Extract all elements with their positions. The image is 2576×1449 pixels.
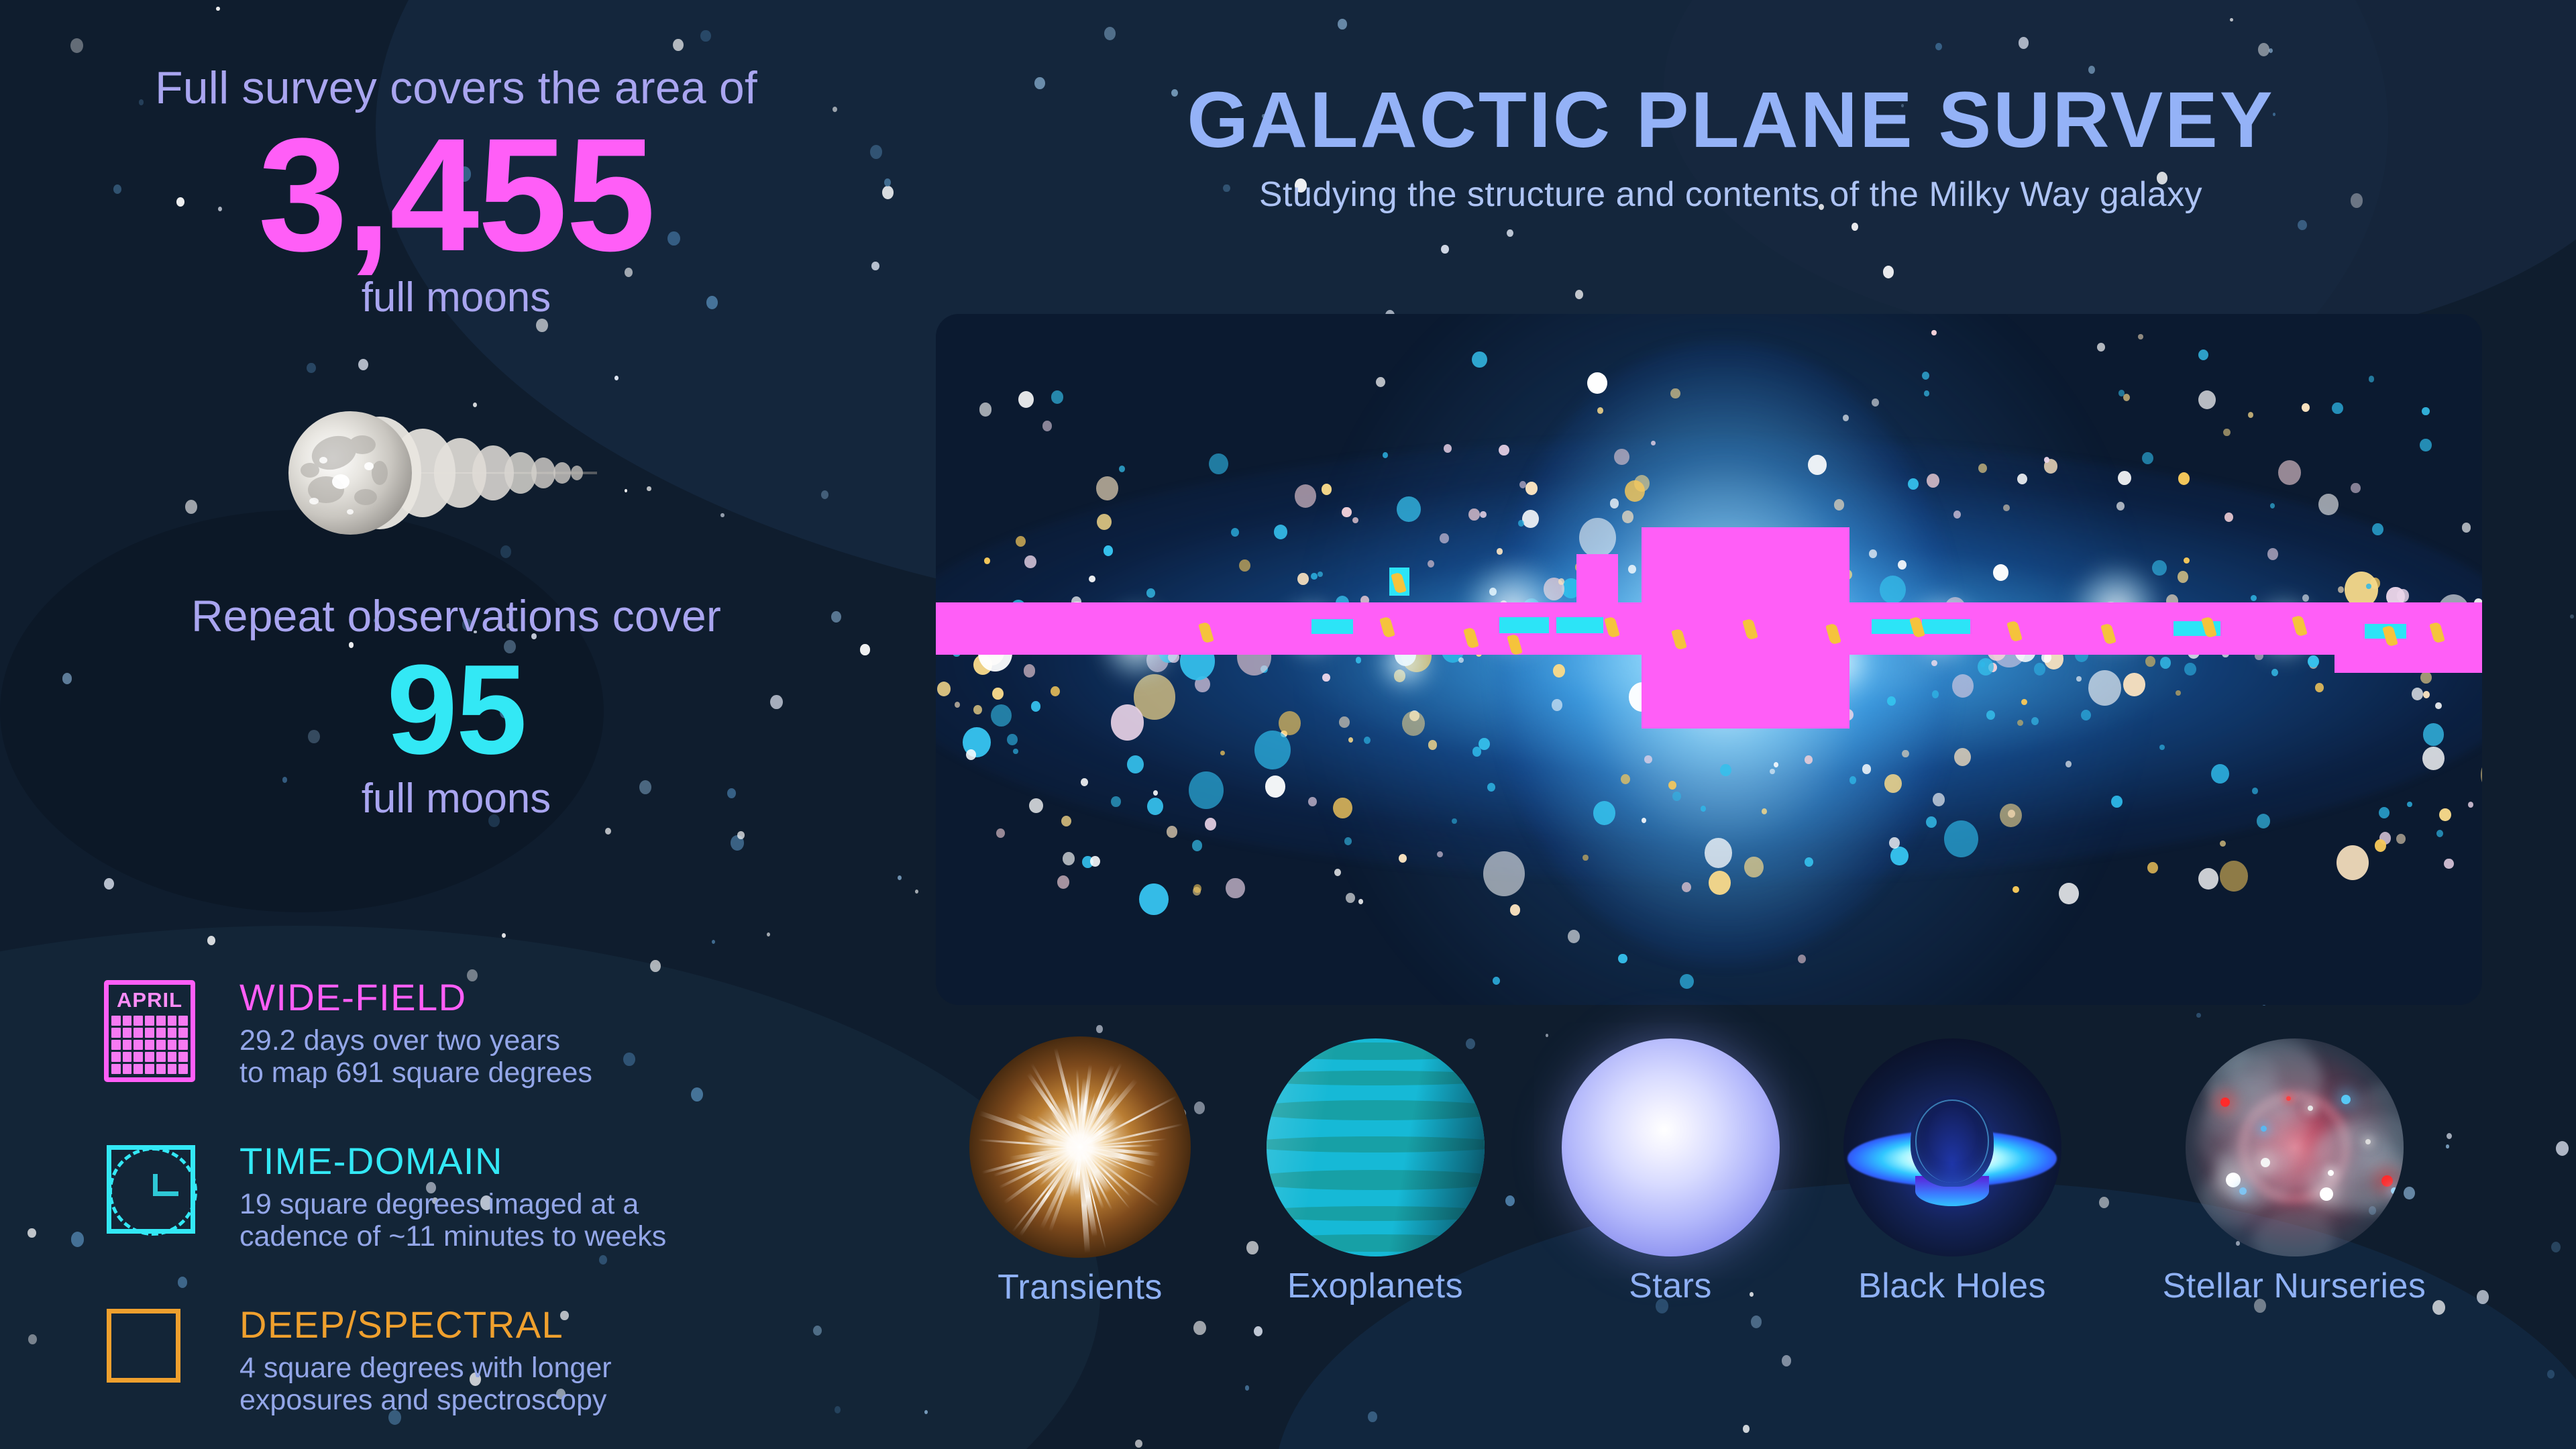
galaxy-star	[1978, 658, 1994, 676]
galaxy-star	[1147, 798, 1163, 815]
galaxy-star	[1318, 572, 1322, 577]
galaxy-star	[2439, 808, 2451, 821]
star	[1104, 27, 1116, 40]
galaxy-star	[2407, 802, 2412, 807]
galaxy-star	[1458, 657, 1464, 663]
calendar-cell	[123, 1052, 132, 1062]
galaxy-star	[1487, 783, 1495, 792]
galaxy-star	[1582, 855, 1588, 861]
galaxy-star	[1902, 750, 1909, 757]
nebula-star	[2220, 1097, 2230, 1107]
calendar-cell	[111, 1064, 121, 1074]
star	[2258, 43, 2269, 56]
galaxy-star	[2251, 595, 2256, 601]
calendar-cell	[178, 1052, 188, 1062]
galaxy-star	[2176, 690, 2180, 696]
nebula-star	[2328, 1170, 2334, 1176]
galaxy-star	[2267, 548, 2278, 560]
galaxy-star	[1437, 851, 1443, 858]
calendar-cell	[123, 1028, 132, 1038]
galaxy-star	[1510, 904, 1520, 915]
galaxy-star	[1339, 716, 1350, 728]
galaxy-star	[1274, 525, 1287, 539]
galaxy-star	[1621, 774, 1630, 784]
galaxy-star	[1322, 484, 1332, 495]
galaxy-star	[2118, 390, 2125, 396]
galaxy-star	[1383, 452, 1388, 458]
galaxy-star	[937, 682, 951, 696]
galaxy-star	[1884, 774, 1902, 793]
galaxy-star	[1558, 578, 1564, 585]
galaxy-star	[2220, 841, 2226, 847]
galaxy-star	[1880, 576, 1907, 604]
galaxy-star	[1239, 559, 1250, 572]
galaxy-star	[2379, 807, 2390, 818]
galaxy-star	[2160, 657, 2171, 668]
nebula-star	[2308, 1106, 2313, 1111]
galaxy-star	[2178, 472, 2190, 485]
galaxy-star	[1111, 796, 1121, 807]
galaxy-star	[1931, 330, 1937, 336]
stat-repeat-observations: Repeat observations cover 95 full moons	[0, 590, 912, 822]
galaxy-star	[1189, 771, 1224, 809]
galaxy-star	[1311, 573, 1318, 580]
galaxy-star	[1018, 391, 1034, 408]
calendar-cell	[168, 1052, 177, 1062]
star	[2269, 48, 2273, 53]
galaxy-star	[1344, 837, 1352, 845]
galaxy-star	[1042, 421, 1053, 431]
legend-description: 4 square degrees with longer exposures a…	[239, 1352, 612, 1416]
galaxy-star	[1898, 560, 1907, 570]
calendar-cell	[145, 1052, 154, 1062]
star	[2088, 66, 2095, 74]
galaxy-star	[2422, 747, 2445, 771]
galaxy-star	[2184, 663, 2196, 676]
galaxy-star	[1483, 851, 1525, 896]
galaxy-star	[1051, 390, 1063, 403]
galaxy-star	[1628, 565, 1636, 574]
calendar-cell	[123, 1016, 132, 1026]
galaxy-star	[1231, 528, 1239, 537]
legend-item-wide-field[interactable]: APRIL WIDE-FIELD 29.2 days over two year…	[97, 976, 889, 1090]
survey-modes-legend: APRIL WIDE-FIELD 29.2 days over two year…	[97, 976, 889, 1449]
galaxy-star	[1205, 818, 1217, 830]
galaxy-star	[2081, 710, 2091, 720]
galaxy-star	[1428, 560, 1434, 568]
stat-unit: full moons	[0, 274, 912, 321]
galaxy-star	[1701, 806, 1706, 812]
galaxy-star	[979, 402, 992, 416]
calendar-cell	[133, 1040, 143, 1050]
calendar-cell	[111, 1028, 121, 1038]
galaxy-star	[1944, 820, 1978, 857]
galaxy-star	[1518, 520, 1524, 527]
galaxy-star	[2423, 723, 2444, 745]
legend-title: DEEP/SPECTRAL	[239, 1306, 612, 1344]
galaxy-star	[1472, 747, 1481, 756]
galaxy-star	[1497, 548, 1503, 554]
galaxy-star	[2224, 513, 2233, 522]
galaxy-star	[1051, 686, 1060, 696]
galaxy-star	[1209, 453, 1228, 474]
galaxy-star	[1668, 781, 1676, 790]
galaxy-star	[2012, 886, 2019, 894]
galaxy-star	[1139, 883, 1169, 916]
galaxy-star	[966, 749, 976, 760]
infographic-canvas: Full survey covers the area of 3,455 ful…	[0, 0, 2576, 1449]
galaxy-star	[1333, 798, 1352, 818]
galaxy-star	[2372, 523, 2383, 535]
galaxy-star	[1843, 415, 1849, 421]
galaxy-star	[2462, 523, 2471, 533]
legend-item-time-domain[interactable]: TIME-DOMAIN 19 square degrees imaged at …	[97, 1140, 889, 1254]
nebula-wisp	[2253, 1207, 2334, 1256]
calendar-cell	[156, 1064, 166, 1074]
nebula-star	[2391, 1187, 2398, 1194]
galaxy-star	[2178, 571, 2188, 583]
galaxy-star	[1720, 764, 1731, 776]
calendar-cell	[111, 1052, 121, 1062]
star	[2230, 18, 2233, 21]
legend-title: WIDE-FIELD	[239, 979, 592, 1016]
galaxy-star	[2302, 594, 2309, 602]
galaxy-star	[2031, 717, 2039, 725]
galaxy-star	[1279, 711, 1301, 735]
galaxy-star	[1111, 704, 1144, 740]
galaxy-star	[2338, 586, 2344, 593]
galaxy-star	[2220, 861, 2248, 891]
object-stellar-nurseries[interactable]: Stellar Nurseries	[2120, 1038, 2469, 1306]
galaxy-star	[2118, 471, 2131, 486]
galaxy-star	[2044, 457, 2049, 463]
calendar-cell	[111, 1016, 121, 1026]
galaxy-star	[1597, 407, 1604, 414]
galaxy-star	[2318, 494, 2339, 515]
galaxy-star	[2021, 699, 2027, 705]
galaxy-star	[1376, 377, 1385, 387]
galaxy-star	[1922, 372, 1929, 380]
moon-cone-illustration	[262, 372, 624, 574]
calendar-cell	[145, 1040, 154, 1050]
galaxy-star	[1682, 882, 1691, 892]
stat-unit: full moons	[0, 775, 912, 822]
galaxy-star	[1356, 657, 1361, 663]
galaxy-star	[2271, 669, 2278, 676]
galaxy-star	[2423, 691, 2430, 698]
galaxy-star	[2396, 834, 2406, 844]
galaxy-star	[1887, 696, 1896, 706]
object-black-holes[interactable]: Black Holes	[1811, 1038, 2093, 1306]
galaxy-star	[1016, 536, 1026, 547]
galaxy-star	[2420, 672, 2432, 684]
square-icon	[97, 1303, 205, 1417]
galaxy-star	[1097, 514, 1112, 530]
galaxy-star	[1297, 573, 1308, 585]
galaxy-star	[1744, 857, 1764, 878]
stat-number: 3,455	[0, 118, 912, 271]
galaxy-star	[1862, 764, 1872, 774]
galaxy-star	[1295, 484, 1316, 508]
calendar-cell	[133, 1028, 143, 1038]
galaxy-star	[1805, 755, 1813, 764]
galaxy-star	[1452, 818, 1456, 824]
galaxy-star	[2088, 670, 2121, 706]
page-subtitle: Studying the structure and contents of t…	[926, 174, 2536, 215]
star	[924, 1410, 928, 1414]
glowing-star-icon	[1562, 1038, 1780, 1256]
galaxy-star	[1869, 549, 1877, 558]
star	[1368, 1411, 1377, 1421]
galaxy-star	[1358, 899, 1364, 904]
galaxy-star	[2198, 868, 2218, 890]
galaxy-star	[2147, 862, 2158, 873]
calendar-cell	[156, 1040, 166, 1050]
time-domain-marker	[1922, 619, 1970, 634]
galaxy-star	[2198, 350, 2208, 360]
galaxy-star	[1552, 699, 1563, 711]
galaxy-star	[2308, 655, 2319, 667]
calendar-cell	[178, 1016, 188, 1026]
object-exoplanets[interactable]: Exoplanets	[1234, 1038, 1516, 1306]
star	[1096, 1025, 1103, 1032]
galaxy-star	[1499, 445, 1509, 456]
galaxy-star	[991, 704, 1012, 727]
calendar-cell	[156, 1016, 166, 1026]
galaxy-star	[1932, 690, 1939, 698]
object-label: Exoplanets	[1234, 1266, 1516, 1306]
galaxy-star	[1348, 737, 1354, 743]
galaxy-star	[2123, 673, 2145, 697]
galaxy-star	[1993, 564, 2008, 581]
galaxy-star	[1342, 507, 1351, 517]
galaxy-star	[1024, 664, 1036, 677]
galaxy-star	[1322, 674, 1330, 682]
galaxy-star	[2278, 460, 2301, 485]
nebula-wisp	[2216, 1130, 2310, 1205]
star	[1135, 1440, 1142, 1448]
galaxy-star	[1493, 977, 1500, 985]
calendar-grid	[109, 1016, 191, 1077]
black-hole-icon	[1843, 1038, 2061, 1256]
calendar-cell	[168, 1016, 177, 1026]
galaxy-star	[2116, 502, 2125, 511]
galaxy-star	[2097, 343, 2105, 352]
galaxy-star	[1805, 857, 1813, 867]
galaxy-star	[1399, 854, 1407, 863]
object-label: Stellar Nurseries	[2120, 1266, 2469, 1306]
galaxy-star	[1986, 710, 1995, 720]
galaxy-star	[1927, 474, 1940, 488]
calendar-cell	[145, 1016, 154, 1026]
left-stats-column: Full survey covers the area of 3,455 ful…	[0, 0, 912, 1449]
calendar-cell	[111, 1040, 121, 1050]
galaxy-star	[955, 702, 960, 708]
galaxy-star	[1579, 518, 1616, 557]
galaxy-star	[1265, 775, 1285, 798]
galaxy-star	[1952, 674, 1974, 698]
galaxy-star	[2332, 402, 2343, 415]
galaxy-star	[1525, 482, 1538, 495]
nebula-star	[2261, 1126, 2267, 1132]
star	[1245, 1385, 1249, 1390]
galaxy-star	[1622, 511, 1633, 523]
striped-planet-icon	[1267, 1038, 1485, 1256]
nebula-star	[2261, 1158, 2270, 1167]
galaxy-star	[1364, 737, 1371, 744]
calendar-cell	[145, 1064, 154, 1074]
galaxy-star	[1308, 797, 1317, 806]
galaxy-star	[1090, 856, 1100, 867]
time-domain-marker	[1556, 617, 1603, 633]
object-label: Black Holes	[1811, 1266, 2093, 1306]
page-header: GALACTIC PLANE SURVEY Studying the struc…	[926, 80, 2536, 215]
galaxy-star	[1440, 533, 1448, 543]
galaxy-star	[1468, 508, 1479, 521]
nebula-icon	[2186, 1038, 2404, 1256]
galaxy-star	[2468, 802, 2474, 808]
galaxy-star	[1167, 826, 1177, 837]
galaxy-star	[1127, 755, 1144, 773]
milky-way-diagram	[936, 314, 2482, 1005]
galaxy-star	[1651, 441, 1656, 446]
star	[915, 890, 919, 894]
galaxy-star	[1980, 661, 1986, 667]
star	[1851, 223, 1858, 231]
galaxy-star	[2248, 412, 2253, 418]
galaxy-star	[1480, 511, 1487, 519]
galaxy-star	[1593, 801, 1615, 825]
galaxy-star	[1063, 852, 1075, 865]
galaxy-star	[2351, 483, 2361, 494]
galaxy-star	[2252, 788, 2258, 794]
galaxy-star	[2159, 745, 2165, 750]
galaxy-star	[2000, 804, 2022, 828]
galaxy-star	[1007, 734, 1018, 745]
galaxy-star	[1444, 444, 1452, 453]
legend-title: TIME-DOMAIN	[239, 1142, 666, 1180]
galaxy-star	[1013, 749, 1018, 754]
galaxy-star	[1644, 755, 1652, 764]
galaxy-star	[1334, 869, 1342, 876]
galaxy-star	[1908, 478, 1919, 490]
galaxy-star	[2257, 814, 2271, 828]
calendar-icon: APRIL	[97, 976, 205, 1090]
stat-full-survey: Full survey covers the area of 3,455 ful…	[0, 62, 912, 321]
galaxy-star	[1352, 517, 1358, 523]
galaxy-star	[2422, 407, 2430, 416]
galaxy-star	[1762, 808, 1767, 814]
galaxy-star	[1346, 893, 1355, 903]
galaxy-star	[1153, 790, 1159, 796]
galaxy-star	[1061, 816, 1071, 826]
galaxy-star	[2420, 439, 2431, 451]
galaxy-star	[2369, 376, 2375, 382]
galaxy-star	[1709, 871, 1731, 895]
calendar-cell	[168, 1040, 177, 1050]
galaxy-star	[2034, 663, 2045, 676]
star	[1935, 43, 1941, 50]
galaxy-star	[2366, 584, 2371, 589]
galaxy-star	[1472, 352, 1487, 368]
galaxy-star	[1933, 793, 1945, 806]
galaxy-star	[1057, 875, 1069, 889]
calendar-cell	[123, 1064, 132, 1074]
galaxy-star	[1104, 545, 1114, 556]
nebula-star	[2365, 1139, 2371, 1144]
object-types-row: Transients Exoplanets Stars Black Holes	[939, 1036, 2563, 1372]
galaxy-star	[1024, 555, 1036, 568]
galaxy-star	[2138, 334, 2143, 339]
star	[1441, 245, 1449, 254]
star	[2570, 614, 2573, 619]
nebula-star	[2381, 1175, 2393, 1187]
object-stars[interactable]: Stars	[1529, 1038, 1811, 1306]
star	[1338, 19, 1347, 30]
galaxy-star	[2211, 764, 2229, 784]
galaxy-star	[2337, 845, 2369, 880]
galaxy-star	[1220, 751, 1225, 756]
stat-number: 95	[0, 649, 912, 771]
clock-icon	[97, 1140, 205, 1254]
page-title: GALACTIC PLANE SURVEY	[926, 80, 2536, 160]
time-domain-marker	[1311, 619, 1353, 634]
survey-footprint-right-block	[2334, 602, 2482, 673]
star	[1743, 1425, 1750, 1432]
galaxy-star	[2123, 394, 2131, 401]
galaxy-star	[1808, 455, 1827, 475]
galaxy-star	[1610, 498, 1619, 508]
galaxy-star	[2145, 656, 2155, 667]
galaxy-star	[1890, 847, 1908, 866]
object-transients[interactable]: Transients	[939, 1036, 1221, 1307]
galaxy-star	[1428, 740, 1437, 750]
galaxy-star	[2076, 676, 2081, 682]
galaxy-star	[1081, 778, 1089, 786]
galaxy-star	[1924, 390, 1929, 396]
galaxy-star	[1192, 840, 1203, 851]
galaxy-star	[1642, 818, 1646, 823]
star	[2196, 1013, 2200, 1018]
galaxy-star	[2481, 755, 2482, 794]
calendar-cell	[156, 1028, 166, 1038]
galaxy-star	[1849, 776, 1856, 784]
nebula-star	[2226, 1173, 2241, 1187]
stat-caption: Repeat observations cover	[0, 590, 912, 641]
object-label: Transients	[939, 1267, 1221, 1307]
calendar-cell	[168, 1064, 177, 1074]
legend-item-deep-spectral[interactable]: DEEP/SPECTRAL 4 square degrees with long…	[97, 1303, 889, 1417]
galaxy-star	[1568, 930, 1580, 943]
galaxy-star	[1625, 480, 1645, 502]
galaxy-star	[2315, 683, 2324, 692]
star	[2298, 220, 2307, 231]
galaxy-star	[2302, 403, 2310, 412]
galaxy-star	[973, 705, 982, 714]
nebula-star	[2341, 1095, 2351, 1104]
galaxy-star	[1587, 372, 1607, 394]
galaxy-star	[1031, 701, 1040, 711]
galaxy-star	[1672, 792, 1680, 800]
galaxy-star	[2198, 390, 2216, 409]
galaxy-star	[996, 828, 1005, 838]
galaxy-star	[1254, 731, 1291, 769]
calendar-cell	[168, 1028, 177, 1038]
nebula-star	[2320, 1187, 2333, 1201]
calendar-cell	[178, 1028, 188, 1038]
galaxy-star	[1402, 711, 1425, 736]
object-label: Stars	[1529, 1266, 1811, 1306]
